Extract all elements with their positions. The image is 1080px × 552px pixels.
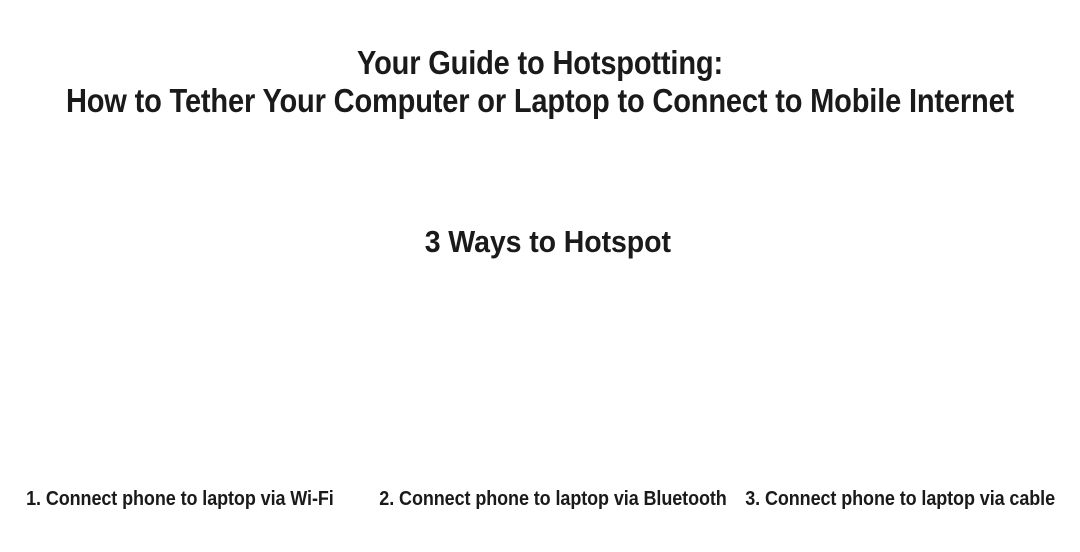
method-caption-bluetooth: 2. Connect phone to laptop via Bluetooth (379, 487, 726, 511)
method-item-cable: 3. Connect phone to laptop via cable (720, 487, 1080, 511)
page-title-line-2: How to Tether Your Computer or Laptop to… (65, 82, 1015, 120)
page-title: Your Guide to Hotspotting: How to Tether… (0, 44, 1080, 120)
method-caption-wifi: 1. Connect phone to laptop via Wi-Fi (26, 487, 334, 511)
illustration-area (0, 285, 1080, 475)
method-captions-row: 1. Connect phone to laptop via Wi-Fi 2. … (0, 487, 1080, 517)
page-title-line-1: Your Guide to Hotspotting: (65, 44, 1015, 82)
method-item-bluetooth: 2. Connect phone to laptop via Bluetooth (360, 487, 720, 511)
section-heading-text: 3 Ways to Hotspot (425, 222, 671, 262)
illustration-bluetooth (360, 285, 720, 475)
illustration-wifi (0, 285, 360, 475)
method-caption-cable: 3. Connect phone to laptop via cable (745, 487, 1055, 511)
illustration-cable (720, 285, 1080, 475)
method-item-wifi: 1. Connect phone to laptop via Wi-Fi (0, 487, 360, 511)
section-heading: 3 Ways to Hotspot (0, 222, 1080, 262)
infographic-page: Your Guide to Hotspotting: How to Tether… (0, 0, 1080, 552)
